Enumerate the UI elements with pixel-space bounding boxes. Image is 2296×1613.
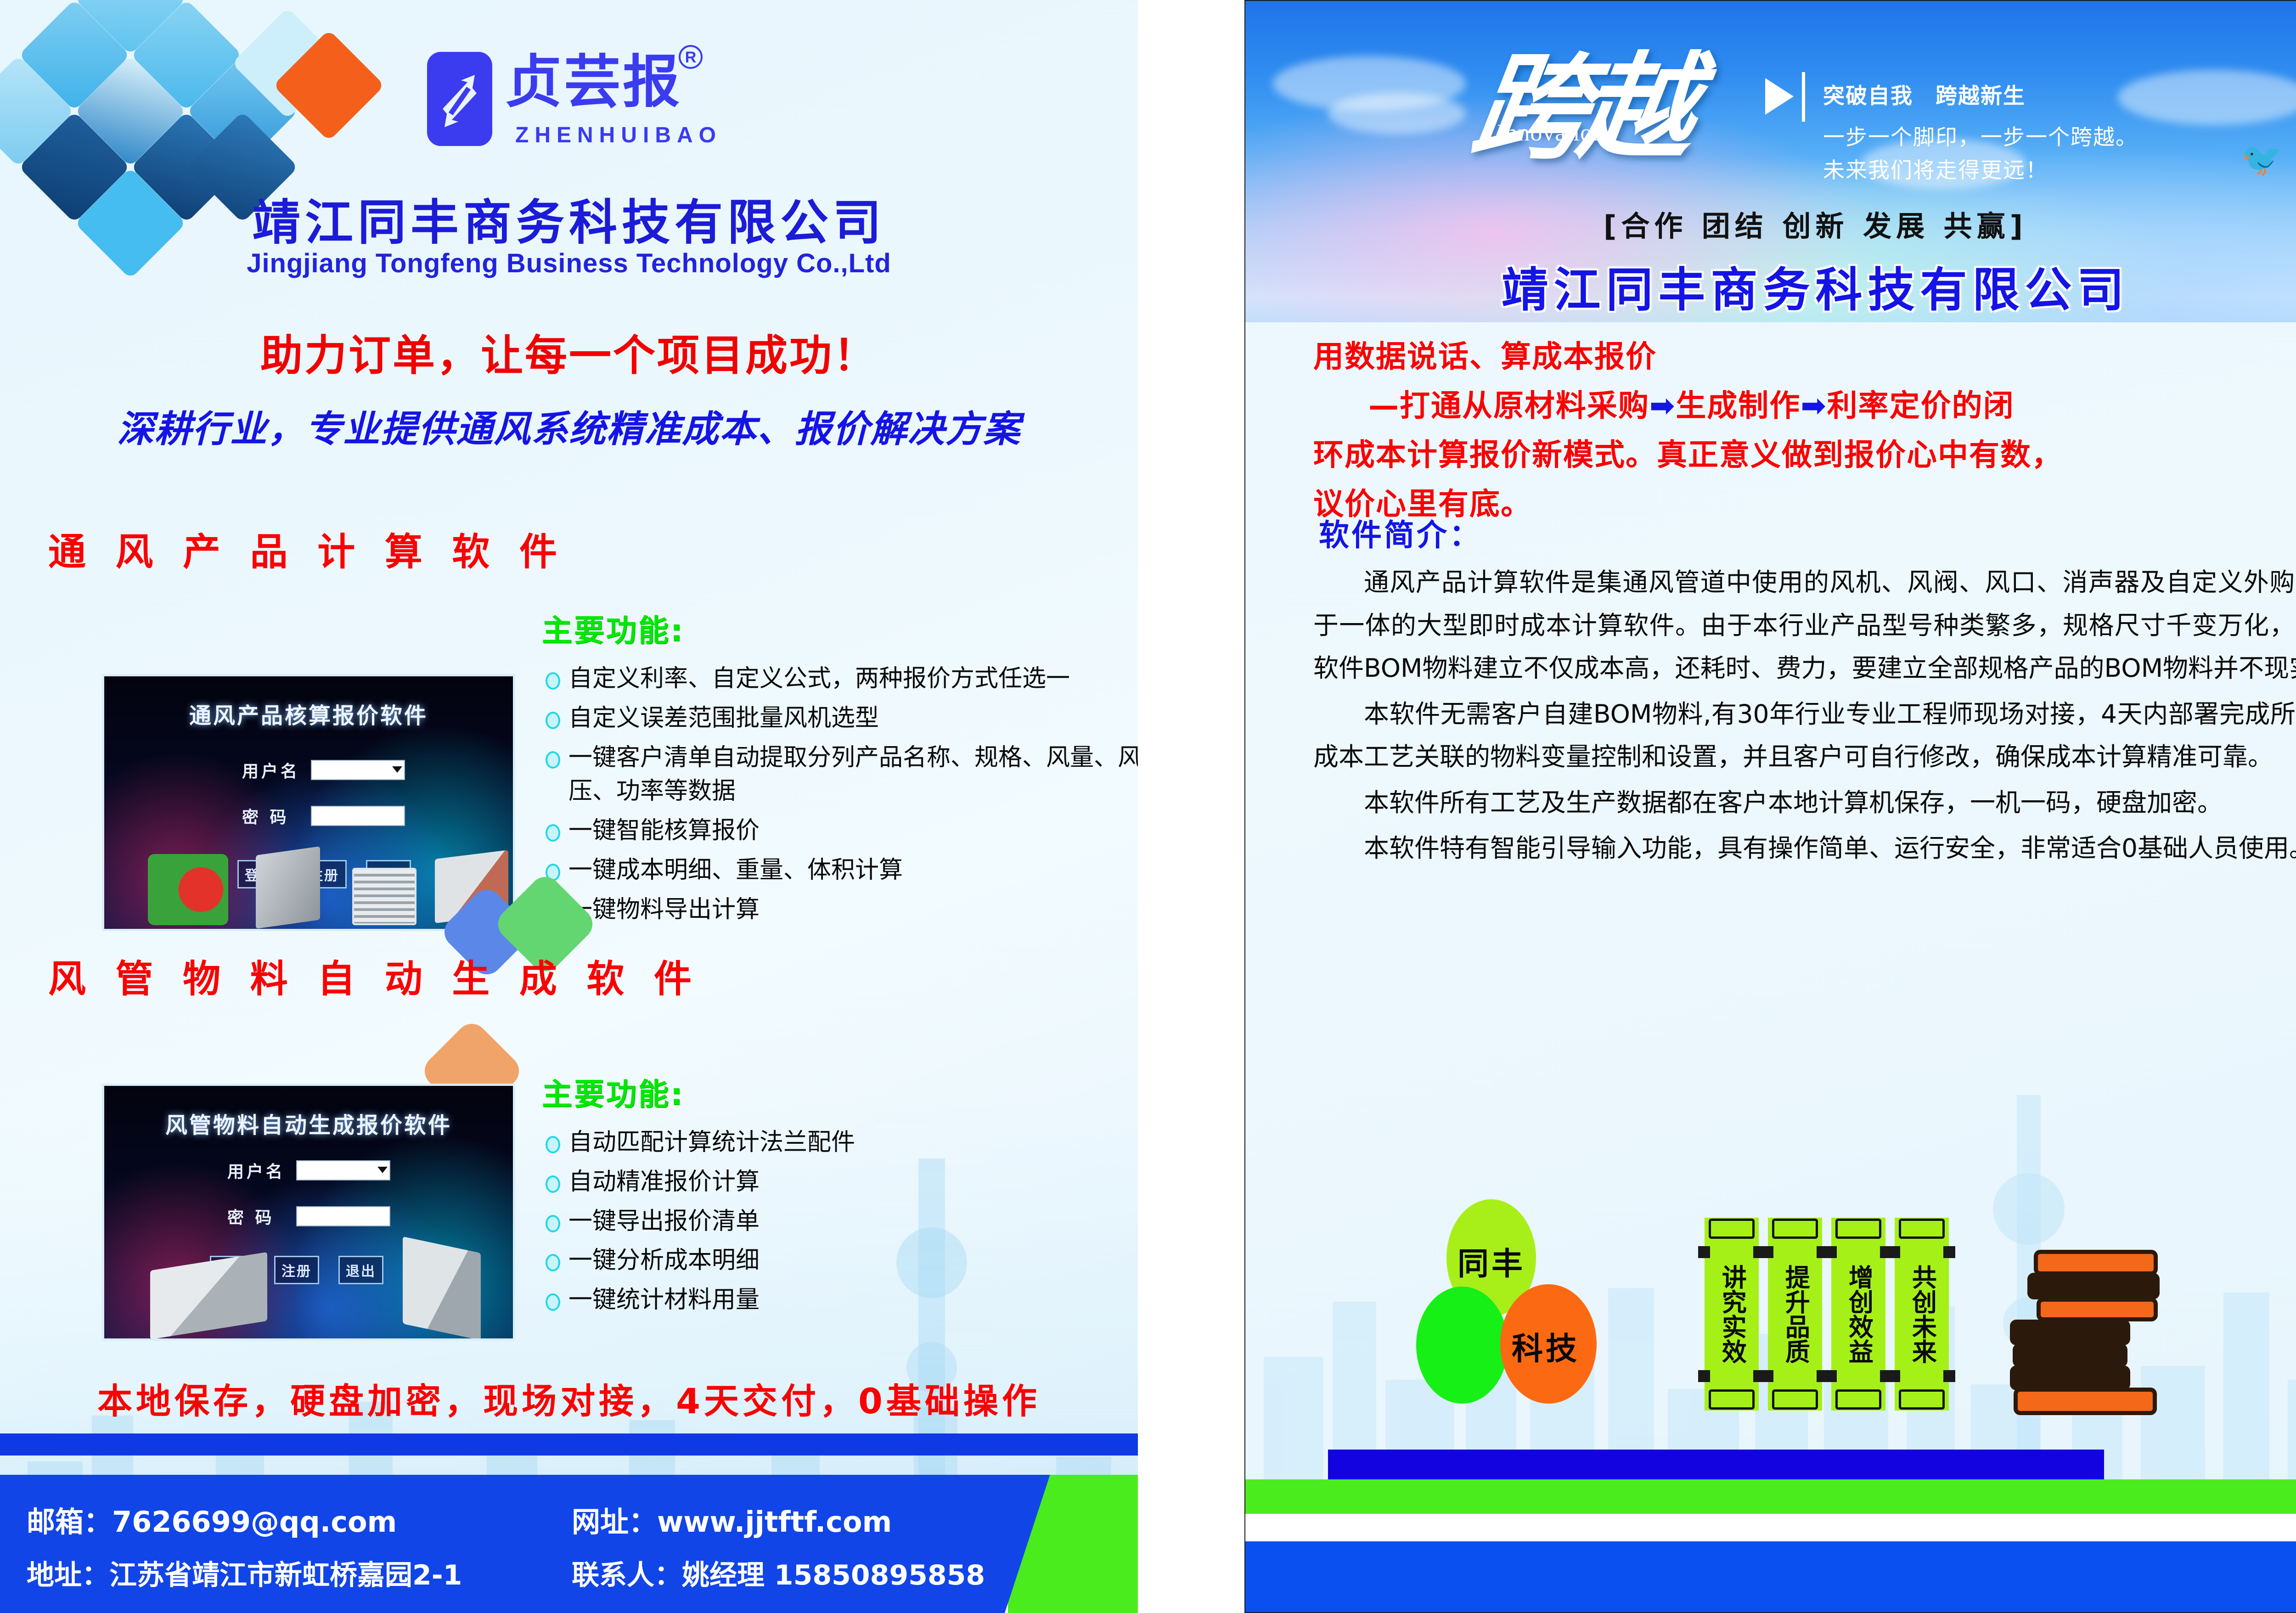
software-intro-heading: 软件简介： [1319, 511, 1482, 555]
right-panel: 跨越 Innovation 突破自我 跨越新生 一步一个脚印，一步一个跨越。 未… [1244, 0, 2296, 1613]
red-headline-line2b: 生成制作 [1676, 388, 1801, 423]
arrow-right-icon: ➡ [1649, 388, 1676, 423]
product-silencer-image [256, 846, 320, 929]
product-fan-image [148, 854, 228, 925]
contact-website[interactable]: 网址：www.jjtftf.com [572, 1499, 892, 1540]
list-item: 一键统计材料用量 [542, 1283, 1138, 1317]
list-item: 自定义利率、自定义公式，两种报价方式任选一 [542, 662, 1138, 696]
circle-label-tongfeng: 同丰 [1458, 1238, 1525, 1284]
banner-text: 提升品质 [1782, 1265, 1808, 1364]
screenshot1-password-input[interactable] [311, 806, 405, 826]
zigzag-arrow-icon [439, 67, 480, 135]
divider-bar-blue [0, 1433, 1138, 1456]
feature-block-2: 主要功能: 自动匹配计算统计法兰配件 自动精准报价计算 一键导出报价清单 一键分… [542, 1070, 1138, 1323]
left-panel: 贞芸报 R ZHENHUIBAO 靖江同丰商务科技有限公司 Jingjiang … [0, 0, 1138, 1613]
seagull-icon: 🐦 [2238, 135, 2288, 182]
screenshot2-title: 风管物料自动生成报价软件 [104, 1107, 513, 1139]
company-name-en: Jingjiang Tongfeng Business Technology C… [0, 248, 1138, 279]
slogan-secondary: 深耕行业，专业提供通风系统精准成本、报价解决方案 [0, 399, 1138, 453]
software-screenshot-1: 通风产品核算报价软件 用户名 密 码 登入 注册 退出 [102, 674, 515, 931]
logo-mark-icon [427, 52, 492, 146]
vertical-banner: 提升品质 [1768, 1218, 1822, 1411]
hero-company-name: 靖江同丰商务科技有限公司 [1245, 253, 2296, 320]
footer-white-bar [1245, 1514, 2296, 1541]
feature-block-1: 主要功能: 自定义利率、自定义公式，两种报价方式任选一 自定义误差范围批量风机选… [542, 606, 1138, 933]
feature2-heading: 主要功能: [542, 1070, 1138, 1114]
red-headline-block: 用数据说话、算成本报价 —打通从原材料采购➡生成制作➡利率定价的闭 环成本计算报… [1313, 332, 2296, 529]
vertical-banner-group: 讲究实效 提升品质 增创效益 共创未来 [1705, 1218, 1949, 1411]
software-intro-body: 通风产品计算软件是集通风管道中使用的风机、风阀、风口、消声器及自定义外购产品于一… [1313, 561, 2296, 873]
vertical-banner: 共创未来 [1895, 1218, 1949, 1411]
list-item: 一键导出报价清单 [542, 1205, 1138, 1239]
feature1-heading: 主要功能: [542, 606, 1138, 650]
company-name-cn: 靖江同丰商务科技有限公司 [0, 184, 1138, 253]
play-triangle-icon [1765, 78, 1794, 115]
banner-text: 讲究实效 [1719, 1265, 1745, 1364]
contact-bar: 邮箱：7626699@qq.com 网址：www.jjtftf.com 地址：江… [0, 1475, 1138, 1613]
feature2-list: 自动匹配计算统计法兰配件 自动精准报价计算 一键导出报价清单 一键分析成本明细 … [542, 1126, 1138, 1317]
screenshot1-username-input[interactable] [311, 760, 405, 780]
product-duct-panel-image [403, 1236, 481, 1340]
red-headline-line2c: 利率定价的闭 [1827, 388, 2015, 423]
arrow-right-icon: ➡ [1801, 388, 1827, 423]
screenshot2-register-button[interactable]: 注册 [274, 1256, 319, 1284]
software-screenshot-2: 风管物料自动生成报价软件 用户名 密 码 登入 注册 退出 [102, 1084, 515, 1341]
contact-address: 地址：江苏省靖江市新虹桥嘉园2-1 [27, 1553, 462, 1593]
list-item: 一键物料导出计算 [542, 893, 1138, 927]
screenshot2-password-input[interactable] [296, 1206, 390, 1226]
banner-text: 增创效益 [1846, 1265, 1872, 1364]
feature1-list: 自定义利率、自定义公式，两种报价方式任选一 自定义误差范围批量风机选型 一键客户… [542, 662, 1138, 927]
circle-badge-green [1416, 1287, 1508, 1404]
logo-chinese-text: 贞芸报 [505, 54, 681, 111]
brand-logo: 贞芸报 R ZHENHUIBAO [427, 44, 684, 163]
list-item: 自定义误差范围批量风机选型 [542, 702, 1138, 736]
screenshot2-username-label: 用户名 [227, 1158, 296, 1182]
contact-email[interactable]: 邮箱：7626699@qq.com [27, 1499, 397, 1540]
hero-core-values: [合作 团结 创新 发展 共赢] [1245, 203, 2296, 244]
logo-pinyin-text: ZHENHUIBAO [515, 123, 722, 148]
red-headline-line1: 用数据说话、算成本报价 [1313, 332, 2296, 382]
section-title-ventilation-calc: 通 风 产 品 计 算 软 件 [48, 521, 565, 576]
screenshot1-password-label: 密 码 [242, 804, 311, 828]
footer-blue-bar [1245, 1541, 2296, 1613]
screenshot2-username-input[interactable] [296, 1160, 390, 1180]
innovation-label: Innovation [1497, 119, 1605, 146]
calligraphy-kuayue: 跨越 [1463, 15, 1700, 181]
screenshot2-password-label: 密 码 [227, 1204, 296, 1228]
list-item: 一键智能核算报价 [542, 814, 1138, 848]
footer-green-bar [1245, 1479, 2296, 1515]
red-headline-line3: 环成本计算报价新模式。真正意义做到报价心中有数， [1313, 431, 2296, 480]
screenshot1-username-label: 用户名 [242, 758, 311, 782]
right-body: 用数据说话、算成本报价 —打通从原材料采购➡生成制作➡利率定价的闭 环成本计算报… [1245, 322, 2296, 1613]
vertical-banner: 增创效益 [1831, 1218, 1885, 1411]
list-item: 一键客户清单自动提取分列产品名称、规格、风量、风压、功率等数据 [542, 741, 1138, 809]
list-item: 自动匹配计算统计法兰配件 [542, 1126, 1138, 1160]
intro-paragraph: 本软件特有智能引导输入功能，具有操作简单、运行安全，非常适合0基础人员使用。 [1313, 827, 2296, 870]
intro-paragraph: 本软件所有工艺及生产数据都在客户本地计算机保存，一机一码，硬盘加密。 [1313, 781, 2296, 825]
intro-paragraph: 本软件无需客户自建BOM物料,有30年行业专业工程师现场对接，4天内部署完成所有… [1313, 693, 2296, 779]
screenshot2-exit-button[interactable]: 退出 [338, 1256, 383, 1284]
circle-label-keji: 科技 [1512, 1323, 1580, 1369]
list-item: 自动精准报价计算 [542, 1165, 1138, 1199]
slogan-primary: 助力订单，让每一个项目成功！ [0, 321, 1138, 382]
hero-banner: 跨越 Innovation 突破自我 跨越新生 一步一个脚印，一步一个跨越。 未… [1245, 1, 2296, 322]
vertical-rule-divider [1802, 72, 1805, 122]
vertical-banner: 讲究实效 [1705, 1218, 1759, 1411]
list-item: 一键成本明细、重量、体积计算 [542, 854, 1138, 888]
product-grille-image [352, 868, 416, 925]
list-item: 一键分析成本明细 [542, 1244, 1138, 1278]
contact-green-wedge [1005, 1475, 1138, 1613]
bottom-highlight-text: 本地保存，硬盘加密，现场对接，4天交付，0基础操作 [0, 1373, 1138, 1423]
section-title-duct-material: 风 管 物 料 自 动 生 成 软 件 [48, 948, 700, 1003]
banner-text: 共创未来 [1909, 1265, 1935, 1364]
hero-tagline-1: 突破自我 跨越新生 [1823, 78, 2026, 110]
book-stack-illustration [2010, 1250, 2161, 1415]
red-headline-line2a: —打通从原材料采购 [1368, 388, 1649, 423]
intro-paragraph: 通风产品计算软件是集通风管道中使用的风机、风阀、风口、消声器及自定义外购产品于一… [1313, 561, 2296, 690]
hero-tagline-2: 一步一个脚印，一步一个跨越。 [1823, 119, 2138, 151]
flyer-page: 贞芸报 R ZHENHUIBAO 靖江同丰商务科技有限公司 Jingjiang … [0, 0, 2296, 1613]
contact-person: 联系人：姚经理 15850895858 [572, 1553, 985, 1593]
screenshot1-title: 通风产品核算报价软件 [104, 697, 513, 730]
registered-mark-icon: R [679, 45, 703, 69]
hero-tagline-3: 未来我们将走得更远！ [1823, 152, 2048, 184]
